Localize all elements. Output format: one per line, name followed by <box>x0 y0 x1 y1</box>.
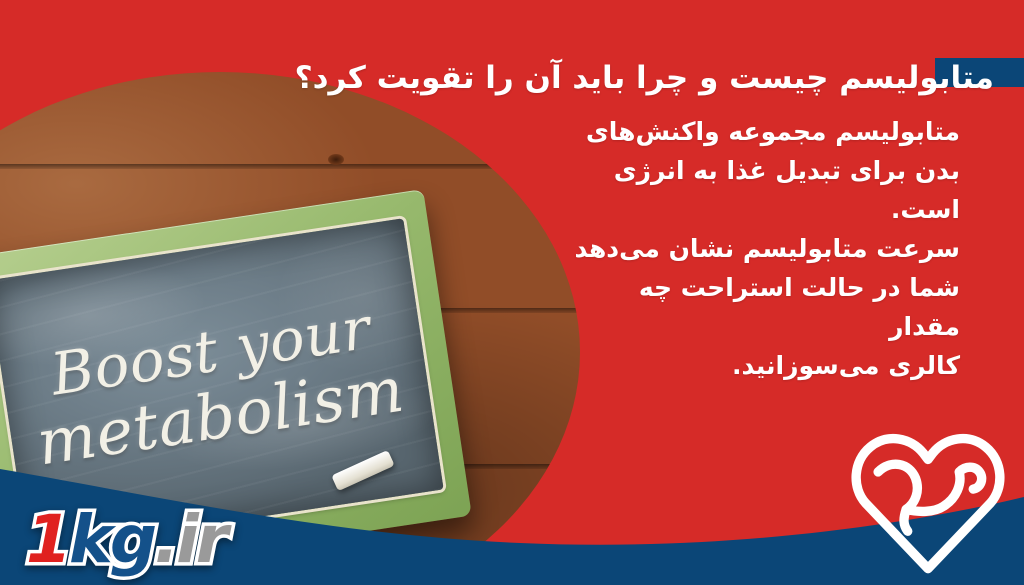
chalk-line-1: Boost your <box>0 292 423 411</box>
body-paragraph: متابولیسم مجموعه واکنش‌های بدن برای تبدی… <box>560 112 960 385</box>
wood-knot <box>328 154 344 165</box>
chalkboard-text: Boost your metabolism <box>0 292 433 479</box>
logo-part-ir: ir <box>176 501 225 578</box>
chalk-stick <box>331 450 394 491</box>
body-line: شما در حالت استراحت چه مقدار <box>560 268 960 346</box>
body-line: سرعت متابولیسم نشان می‌دهد <box>560 229 960 268</box>
body-line: متابولیسم مجموعه واکنش‌های <box>560 112 960 151</box>
heart-bicep-icon <box>850 425 1006 575</box>
body-line: بدن برای تبدیل غذا به انرژی است. <box>560 151 960 229</box>
logo-part-one: 1 <box>26 501 69 578</box>
plank-seam <box>0 164 580 169</box>
page-title: متابولیسم چیست و چرا باید آن را تقویت کر… <box>234 59 994 98</box>
logo-part-dot: . <box>154 501 176 578</box>
logo-part-kg: kg <box>69 501 154 578</box>
site-logo[interactable]: 1kg.ir <box>26 507 225 573</box>
promo-banner: Boost your metabolism متابولیسم چیست و چ… <box>0 0 1024 585</box>
body-line: کالری می‌سوزانید. <box>560 346 960 385</box>
